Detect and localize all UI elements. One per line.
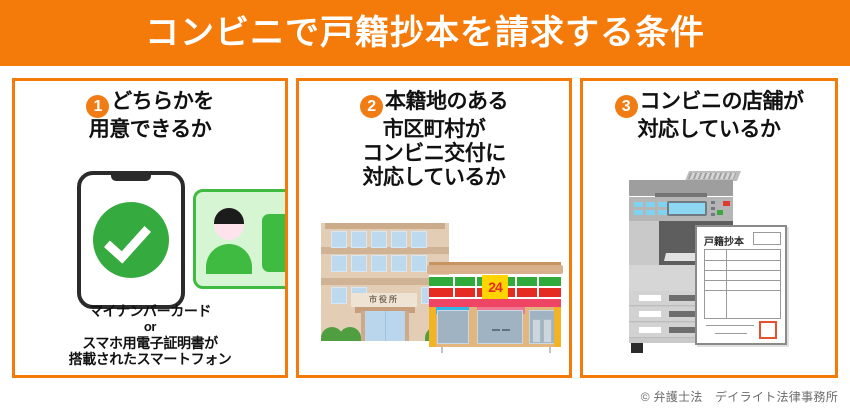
store-window [437, 310, 469, 344]
store-sign-divider [515, 277, 517, 297]
convenience-store-icon: 24 [427, 265, 563, 347]
document-footer-line [715, 333, 747, 334]
copier-body-left [629, 221, 659, 265]
vending-machine [543, 319, 552, 343]
footer-credit: © 弁護士法 デイライト法律事務所 [0, 388, 838, 405]
panel-3-heading-line-2: 対応しているか [583, 118, 835, 142]
document-header-box [753, 232, 781, 245]
document-table-row [705, 280, 780, 281]
panel-1-caption-or: or [15, 319, 285, 334]
document-title: 戸籍抄本 [704, 233, 744, 248]
copier-feeder-stripes [688, 173, 736, 179]
panel-1-heading-line-2: 用意できるか [15, 118, 285, 142]
copier-button [658, 210, 667, 215]
bush [339, 327, 361, 341]
panel-3-heading: 3コンビニの店舗が 対応しているか [583, 90, 835, 142]
my-number-card-icon [193, 189, 288, 289]
document-table-row [705, 270, 780, 271]
copier-display-screen [667, 201, 707, 216]
building-window [391, 255, 407, 272]
building-band-1 [321, 247, 449, 254]
panel-1-heading-line-1: どちらかを [111, 90, 214, 113]
phone-notch [111, 174, 151, 181]
copier-green-led [717, 210, 723, 215]
building-window [331, 231, 347, 248]
condition-panel-1: 1どちらかを 用意できるか マイナンバーカード or スマホ用電子証明 [12, 78, 288, 378]
panel-1-caption-line-4: 搭載されたスマートフォン [15, 351, 285, 367]
building-window [371, 231, 387, 248]
green-check-icon [93, 202, 169, 278]
panel-2-number-badge: 2 [360, 95, 383, 118]
building-window [351, 231, 367, 248]
city-hall-sign: 市役所 [351, 293, 417, 307]
document-footer-line [706, 325, 754, 326]
panel-3-number-badge: 3 [615, 95, 638, 118]
panel-1-heading: 1どちらかを 用意できるか [15, 90, 285, 142]
panel-1-caption-line-3: スマホ用電子証明書が [15, 335, 285, 351]
store-sign-divider [475, 277, 477, 297]
copier-button [646, 210, 655, 215]
copier-red-led [723, 201, 730, 206]
panel-3-heading-line-1: コンビニの店舗が [640, 90, 804, 113]
building-window [391, 231, 407, 248]
condition-panel-3: 3コンビニの店舗が 対応しているか [580, 78, 838, 378]
certificate-document: 戸籍抄本 [695, 225, 787, 345]
store-leg [441, 347, 443, 353]
panel-1-caption: マイナンバーカード or スマホ用電子証明書が 搭載されたスマートフォン [15, 303, 285, 367]
drawer-label [639, 327, 661, 333]
copier-indicator [711, 213, 715, 216]
store-entrance-door [477, 310, 523, 344]
smartphone-icon [77, 171, 185, 309]
store-roof [427, 265, 563, 274]
document-table-row [705, 290, 780, 291]
panel-2-heading-line-3: コンビニ交付に [299, 142, 569, 166]
panel-2-heading-line-1: 本籍地のある [385, 90, 508, 113]
building-window [331, 287, 347, 304]
building-window [411, 231, 427, 248]
document-table-row [705, 260, 780, 261]
door-handle [502, 329, 510, 331]
store-24h-badge: 24 [482, 275, 508, 299]
page-title: コンビニで戸籍抄本を請求する条件 [0, 0, 850, 66]
card-person-body [206, 244, 252, 274]
card-info-field [262, 214, 288, 272]
building-entrance [361, 311, 409, 341]
card-person-hair [214, 208, 244, 224]
drawer-label [639, 295, 661, 301]
panel-2-heading-line-2: 市区町村が [299, 118, 569, 142]
panel-2-heading-line-4: 対応しているか [299, 166, 569, 190]
condition-panel-2: 2本籍地のある 市区町村が コンビニ交付に 対応しているか [296, 78, 572, 378]
panel-1-number-badge: 1 [86, 95, 109, 118]
official-stamp-box [759, 321, 777, 339]
panel-2-illustration: 市役所 24 [299, 217, 569, 372]
store-window-right [529, 310, 555, 344]
building-roof [325, 223, 445, 229]
copier-indicator [711, 201, 715, 204]
store-pillar [429, 307, 436, 347]
building-window [331, 255, 347, 272]
copier-foot [631, 343, 643, 353]
copier-button [634, 210, 643, 215]
door-handle [492, 329, 500, 331]
panel-3-illustration: 戸籍抄本 [583, 163, 835, 363]
building-window [411, 255, 427, 272]
document-table [704, 249, 781, 319]
store-sign-divider [537, 277, 539, 297]
header-band: コンビニで戸籍抄本を請求する条件 [0, 0, 850, 66]
store-pillar [554, 307, 561, 347]
drawer-label [639, 311, 661, 317]
building-window [371, 255, 387, 272]
store-signboard: 24 [429, 275, 561, 299]
store-sign-divider [453, 277, 455, 297]
copier-button [634, 202, 643, 207]
store-front [429, 307, 561, 347]
building-window [351, 255, 367, 272]
vending-machine [532, 319, 541, 343]
panel-1-illustration [15, 169, 285, 309]
store-leg [549, 347, 551, 353]
store-awning [429, 299, 561, 307]
check-mark-glyph [104, 215, 151, 264]
copier-indicator [711, 207, 715, 210]
copier-button [646, 202, 655, 207]
panel-2-heading: 2本籍地のある 市区町村が コンビニ交付に 対応しているか [299, 90, 569, 190]
infographic-canvas: コンビニで戸籍抄本を請求する条件 1どちらかを 用意できるか [0, 0, 850, 420]
panel-1-caption-line-1: マイナンバーカード [15, 303, 285, 319]
copier-button [658, 202, 667, 207]
